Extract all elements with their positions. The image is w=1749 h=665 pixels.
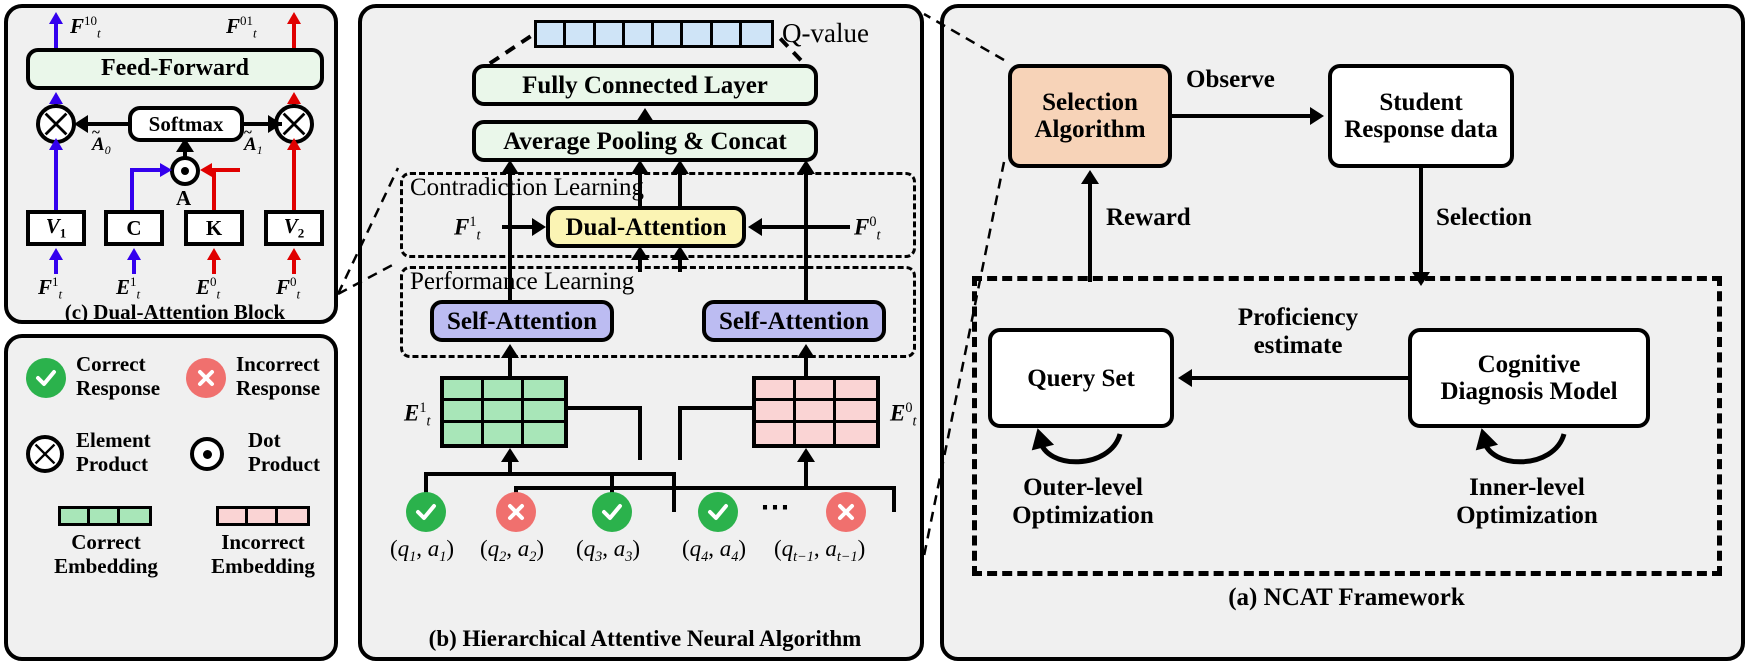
matrix-cell (796, 401, 836, 422)
proficiency-estimate-line1: Proficiency (1190, 304, 1406, 332)
legend-label-incorrect-embedding: Incorrect Embedding (178, 530, 348, 578)
k-to-dot-vert (212, 168, 216, 210)
proficiency-estimate-edge-label: Proficiency estimate (1190, 304, 1406, 360)
legend-correct-line2: Response (76, 376, 160, 400)
box-k: K (184, 210, 244, 246)
matrix-cell (444, 401, 484, 422)
output-arrowhead-left (49, 12, 63, 24)
attn-label-a0: ~A0 (92, 134, 111, 158)
box-c-label: C (126, 217, 141, 240)
legend-incorrect-line1: Incorrect (236, 352, 320, 376)
cross-glyph (193, 365, 219, 391)
student-response-data-line2: Response data (1344, 116, 1498, 143)
proficiency-estimate-edge-line (1192, 376, 1408, 380)
legend-cross-circle-icon (186, 358, 226, 398)
v1-to-product-line (54, 144, 58, 210)
dual-attn-out-left-line (638, 174, 642, 208)
outer-level-optimization-label: Outer-level Optimization (988, 474, 1178, 530)
selection-algorithm-line2: Algorithm (1034, 116, 1145, 143)
input-label-f1: F1t (38, 274, 62, 302)
softmax-to-left-arrow (74, 115, 88, 133)
matrix-cell (836, 423, 876, 444)
panel-a-caption: (a) NCAT Framework (944, 584, 1749, 612)
input-label-e1: E1t (116, 274, 140, 302)
v2-to-product-arrow (287, 138, 301, 150)
right-branch-to-pooling (804, 174, 808, 300)
input-label-f0: F0t (276, 274, 300, 302)
self-attention-label-left: Self-Attention (447, 308, 597, 335)
f1-to-dual-attention-arrow (532, 218, 546, 236)
figure-root: Feed-Forward F10t F01t (0, 0, 1749, 665)
cross-circle-icon (503, 499, 529, 525)
pink-elbow-horz (678, 406, 752, 410)
legend-dot-line2: Product (248, 452, 320, 476)
legend-cell (278, 509, 307, 523)
panel-dual-attention-block: Feed-Forward F10t F01t (4, 4, 338, 324)
cognitive-diagnosis-model-line1: Cognitive (1478, 351, 1581, 378)
green-elbow-horz (568, 406, 642, 410)
response-label-last: (qt−1, at−1) (774, 536, 865, 566)
input-arrow-e0 (207, 248, 221, 260)
legend-label-correct-response: Correct Response (76, 352, 160, 400)
matrix-cell (836, 401, 876, 422)
green-matrix-to-self-attn-arrow (501, 344, 519, 358)
softmax-to-right-arrow (268, 115, 282, 133)
outer-level-line1: Outer-level (988, 474, 1178, 502)
legend-incorrect-embedding-swatch (216, 506, 310, 526)
dual-attn-in-left-arrow (631, 246, 649, 260)
dual-attention-box: Dual-Attention (546, 206, 746, 248)
dual-attn-out-left-arrow (631, 160, 649, 174)
matrix-cell (836, 380, 876, 401)
cross-circle-icon (833, 499, 859, 525)
input-arrow-f1 (49, 248, 63, 260)
ff-input-arrow-right (287, 92, 301, 104)
reward-edge-label: Reward (1106, 204, 1191, 232)
query-set-label: Query Set (1027, 365, 1135, 392)
inner-level-line1: Inner-level (1432, 474, 1622, 502)
legend-dot-line1: Dot (248, 428, 320, 452)
dot-product-icon (170, 156, 200, 186)
f0-to-dual-attention-arrow (748, 218, 762, 236)
cognitive-diagnosis-model-node: Cognitive Diagnosis Model (1408, 328, 1650, 428)
input-arrow-e1 (127, 248, 141, 260)
observe-edge-arrow (1310, 107, 1324, 125)
dual-attn-out-right-line (678, 174, 682, 208)
dot-label-a: A (176, 186, 191, 211)
c-to-dot-arrow (160, 163, 172, 177)
right-branch-to-pooling-arrow (797, 160, 815, 174)
reward-edge-line (1088, 184, 1092, 282)
element-product-glyph-legend (30, 435, 60, 473)
green-elbow-vert (638, 410, 642, 460)
cognitive-diagnosis-model-line2: Diagnosis Model (1440, 378, 1617, 405)
selection-algorithm-line1: Selection (1042, 89, 1138, 116)
outer-level-line2: Optimization (988, 502, 1178, 530)
correct-embedding-matrix (440, 376, 568, 448)
attn-label-a1: ~A1 (244, 134, 263, 158)
softmax-box: Softmax (128, 106, 244, 142)
left-branch-to-pooling (508, 174, 512, 300)
input-line-f0 (292, 258, 296, 274)
check-circle-icon (413, 499, 439, 525)
self-attention-box-right: Self-Attention (702, 300, 886, 342)
legend-check-circle-icon (26, 358, 66, 398)
pink-tree-stem (804, 460, 808, 486)
observe-edge-line (1172, 114, 1314, 118)
box-v1-label: V1 (46, 215, 67, 241)
dual-attn-in-right-line (678, 258, 682, 272)
box-k-label: K (206, 217, 222, 240)
box-v2-label: V2 (284, 215, 305, 241)
matrix-cell (756, 423, 796, 444)
dot-label-a-text: A (176, 186, 191, 210)
inner-level-line2: Optimization (1432, 502, 1622, 530)
legend-cell (219, 509, 248, 523)
check-circle-icon (599, 499, 625, 525)
dual-attn-out-right-arrow (671, 160, 689, 174)
selection-algorithm-node: Selection Algorithm (1008, 64, 1172, 168)
student-response-data-node: Student Response data (1328, 64, 1514, 168)
pink-tree-bar (514, 486, 896, 490)
output-label-f10: F10t (70, 13, 101, 41)
legend-label-incorrect-response: Incorrect Response (236, 352, 320, 400)
feed-forward-box: Feed-Forward (26, 48, 324, 90)
response-ellipsis-icon: ⋯ (760, 490, 792, 525)
output-line-right (292, 20, 296, 48)
proficiency-estimate-line2: estimate (1190, 332, 1406, 360)
matrix-cell (444, 380, 484, 401)
dual-attn-in-right-arrow (671, 246, 689, 260)
input-label-e0: E0t (196, 274, 220, 302)
legend-element-line2: Product (76, 452, 151, 476)
panel-c-caption: (c) Dual-Attention Block (8, 300, 342, 325)
green-tree-leg-4 (672, 472, 676, 512)
response-icon-4 (698, 492, 738, 532)
input-line-e0 (212, 258, 216, 274)
matrix-cell (484, 380, 524, 401)
dual-attention-label: Dual-Attention (565, 214, 726, 241)
green-tree-arrow (501, 448, 519, 462)
embedding-label-e1: E1t (404, 400, 430, 431)
response-label-1: (q1, a1) (390, 536, 454, 566)
average-pooling-concat-box: Average Pooling & Concat (472, 120, 818, 162)
dot-product-glyph-legend (203, 450, 212, 459)
contradiction-learning-label: Contradiction Learning (410, 174, 644, 202)
legend-dot-product-icon (190, 437, 224, 471)
matrix-cell (484, 401, 524, 422)
self-attention-label-right: Self-Attention (719, 308, 869, 335)
check-glyph (33, 365, 59, 391)
reward-edge-arrow (1081, 170, 1099, 184)
pink-matrix-to-self-attn-line (804, 356, 808, 378)
input-line-e1 (132, 258, 136, 274)
legend-cell (120, 509, 149, 523)
legend-incorrect-line2: Response (236, 376, 320, 400)
matrix-cell (524, 401, 564, 422)
legend-label-dot-product: Dot Product (248, 428, 320, 476)
matrix-cell (444, 423, 484, 444)
pink-elbow-vert (678, 410, 682, 460)
feature-label-f1: F1t (454, 214, 480, 245)
legend-cell (61, 509, 90, 523)
green-tree-bar (424, 472, 676, 476)
response-label-3: (q3, a3) (576, 536, 640, 566)
incorrect-embedding-matrix (752, 376, 880, 448)
legend-incemb-line1: Incorrect (178, 530, 348, 554)
legend-cell (90, 509, 119, 523)
left-branch-to-pooling-arrow (501, 160, 519, 174)
fully-connected-layer-label: Fully Connected Layer (522, 72, 768, 99)
response-icon-3 (592, 492, 632, 532)
response-icon-2 (496, 492, 536, 532)
pink-tree-leg-last (892, 486, 896, 512)
input-line-f1 (54, 258, 58, 274)
matrix-cell (796, 423, 836, 444)
box-v2: V2 (264, 210, 324, 246)
v2-to-product-line (292, 144, 296, 210)
v1-to-product-arrow (49, 138, 63, 150)
pink-matrix-to-self-attn-arrow (797, 344, 815, 358)
softmax-label: Softmax (149, 113, 224, 136)
box-c: C (104, 210, 164, 246)
legend-cell (248, 509, 277, 523)
ff-input-arrow-left (49, 92, 63, 104)
k-to-dot-arrow (200, 163, 212, 177)
query-set-node: Query Set (988, 328, 1174, 428)
selection-edge-line (1419, 168, 1423, 276)
matrix-cell (524, 380, 564, 401)
legend-corremb-line2: Embedding (22, 554, 190, 578)
matrix-cell (524, 423, 564, 444)
check-circle-icon (705, 499, 731, 525)
fully-connected-layer-box: Fully Connected Layer (472, 64, 818, 106)
response-label-2: (q2, a2) (480, 536, 544, 566)
legend-element-line1: Element (76, 428, 151, 452)
matrix-cell (756, 401, 796, 422)
legend-incemb-line2: Embedding (178, 554, 348, 578)
output-label-f01: F01t (226, 13, 257, 41)
feed-forward-label: Feed-Forward (101, 56, 249, 82)
panel-b-caption: (b) Hierarchical Attentive Neural Algori… (362, 626, 928, 652)
dot-to-softmax-arrow (176, 138, 194, 152)
pink-tree-arrow (797, 448, 815, 462)
embedding-label-e0: E0t (890, 400, 916, 431)
performance-learning-label: Performance Learning (410, 268, 634, 296)
response-label-4: (q4, a4) (682, 536, 746, 566)
output-arrowhead-right (287, 12, 301, 24)
matrix-cell (484, 423, 524, 444)
feature-label-f0: F0t (854, 214, 880, 245)
proficiency-estimate-edge-arrow (1178, 369, 1192, 387)
matrix-cell (796, 380, 836, 401)
box-v1: V1 (26, 210, 86, 246)
legend-label-element-product: Element Product (76, 428, 151, 476)
panel-ncat-framework: Selection Algorithm Student Response dat… (940, 4, 1745, 661)
c-to-dot-horz (130, 168, 164, 172)
inner-level-optimization-label: Inner-level Optimization (1432, 474, 1622, 530)
green-matrix-to-self-attn-line (508, 356, 512, 378)
panel-hierarchical-attentive-neural-algorithm: Q-value Fully Connected Layer Average Po… (358, 4, 924, 661)
legend-correct-line1: Correct (76, 352, 160, 376)
legend-element-product-icon (26, 435, 64, 473)
legend-label-correct-embedding: Correct Embedding (22, 530, 190, 578)
input-arrow-f0 (287, 248, 301, 260)
panel-legend: Correct Response Incorrect Response Elem… (4, 334, 338, 661)
output-line-left (54, 20, 58, 48)
observe-edge-label: Observe (1186, 66, 1275, 94)
response-icon-1 (406, 492, 446, 532)
response-icon-last (826, 492, 866, 532)
legend-correct-embedding-swatch (58, 506, 152, 526)
dual-attn-in-left-line (638, 258, 642, 272)
average-pooling-concat-label: Average Pooling & Concat (503, 128, 787, 155)
matrix-cell (756, 380, 796, 401)
c-to-dot-vert (130, 168, 134, 210)
legend-corremb-line1: Correct (22, 530, 190, 554)
dot-product-glyph (181, 167, 189, 175)
self-attention-box-left: Self-Attention (430, 300, 614, 342)
selection-edge-label: Selection (1436, 204, 1532, 232)
student-response-data-line1: Student (1379, 89, 1462, 116)
